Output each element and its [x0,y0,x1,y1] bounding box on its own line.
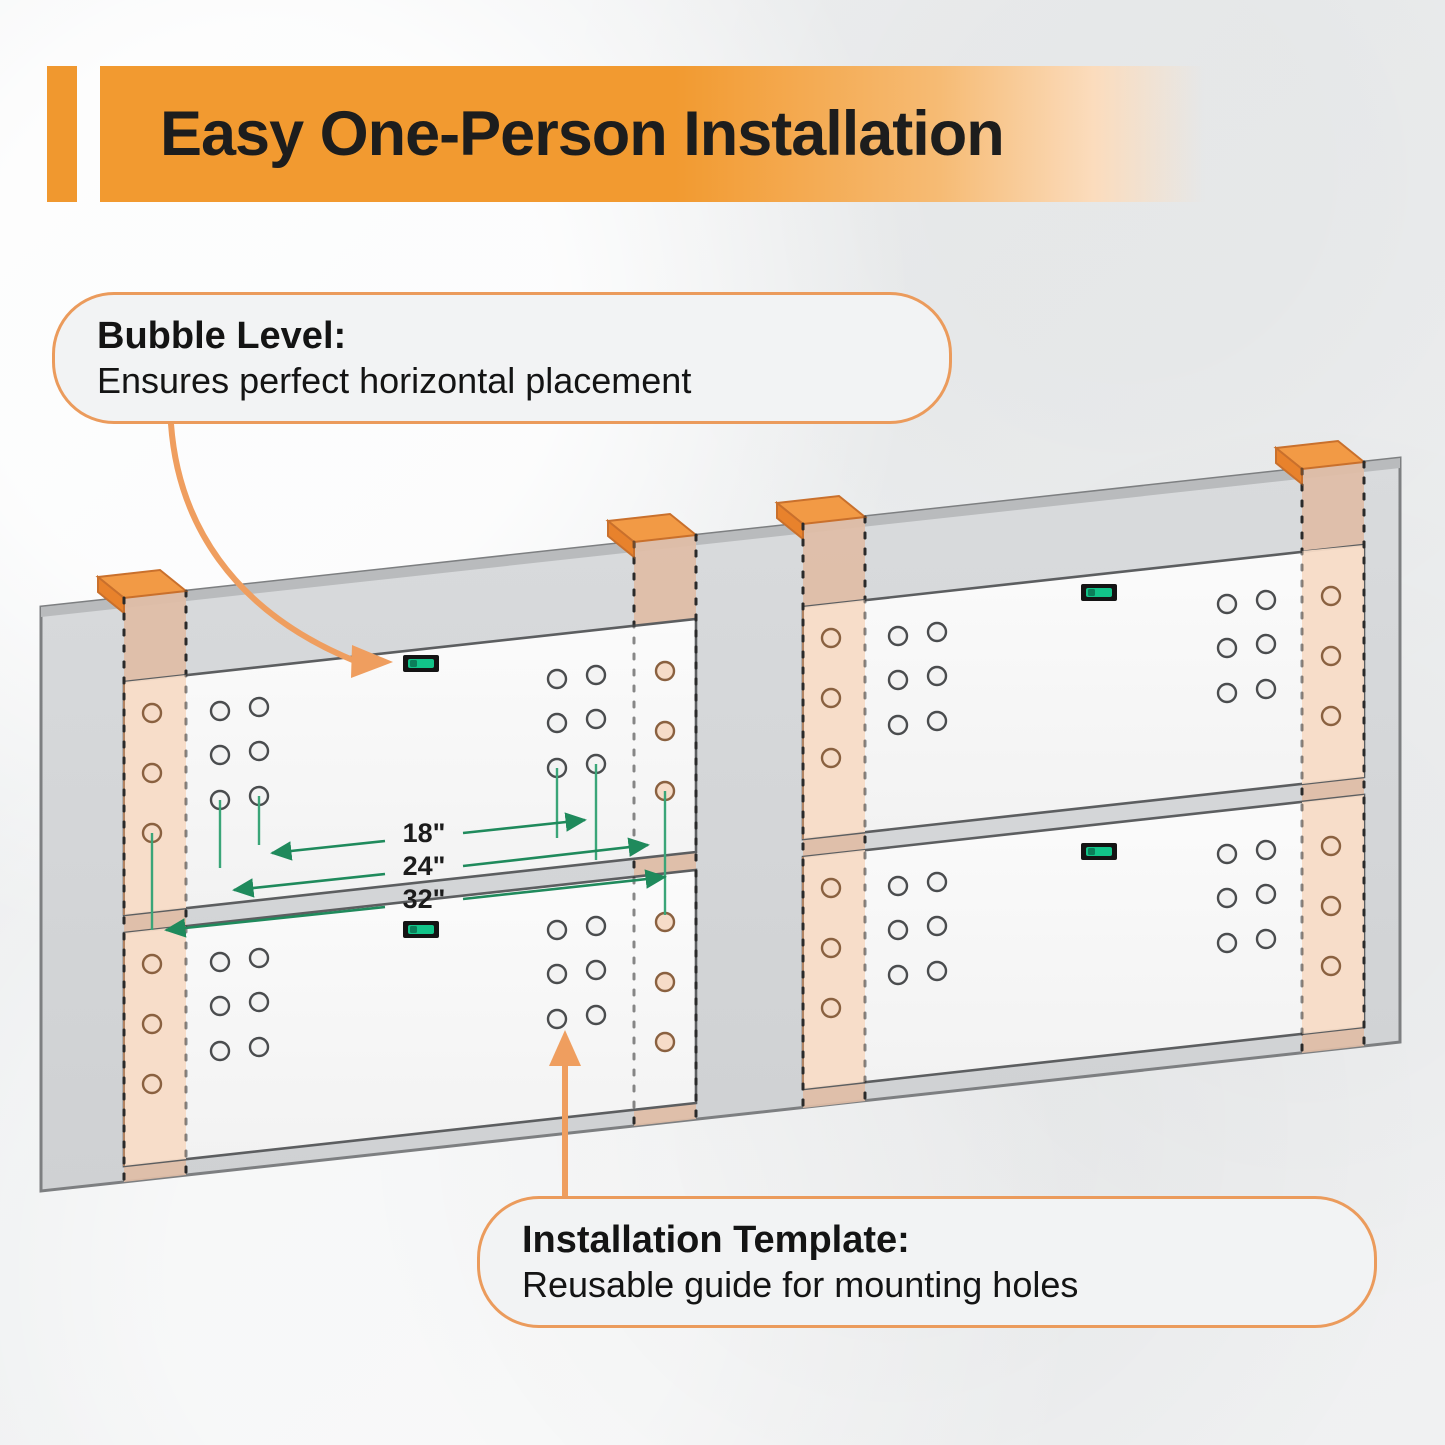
mounting-holes-right-bottom [822,837,1340,1017]
callout-pointer-bubble-level [171,424,393,678]
dimension-label-18: 18" [403,818,446,848]
stud-tab-1 [98,570,186,613]
callout-installation-template-title: Installation Template: [522,1217,1338,1263]
bubble-level-indicator-3 [1081,584,1117,601]
stud-strip-4 [1302,462,1364,1053]
stud-tab-4 [1276,441,1364,484]
dimension-extension-lines [152,764,665,930]
callout-bubble-level-title: Bubble Level: [97,313,913,359]
stud-strip-3 [803,517,865,1108]
callout-installation-template-subtitle: Reusable guide for mounting holes [522,1263,1338,1307]
mounting-holes-left-top [143,662,674,842]
stud-tab-3 [777,496,865,539]
callout-bubble-level[interactable]: Bubble Level: Ensures perfect horizontal… [52,292,952,424]
dimension-label-24: 24" [403,851,446,881]
mounting-holes-left-bottom [143,913,674,1093]
template-panel-left-top [124,619,696,915]
callout-bubble-level-subtitle: Ensures perfect horizontal placement [97,359,913,403]
header: Easy One-Person Installation [0,0,1445,230]
page-title: Easy One-Person Installation [160,66,1004,202]
template-panel-left-bottom [124,870,696,1166]
bubble-level-indicator-4 [1081,843,1117,860]
bubble-level-indicator-1 [403,655,439,672]
stud-strip-2 [634,535,696,1126]
dimension-arrows [166,820,665,930]
header-accent-bar [47,66,77,202]
bubble-level-indicator-2 [403,921,439,938]
dimension-label-32: 32" [403,884,446,914]
stud-tab-2 [608,514,696,557]
callout-installation-template[interactable]: Installation Template: Reusable guide fo… [477,1196,1377,1328]
template-panel-right-top [803,545,1364,839]
stud-strip-1 [124,591,186,1182]
stud-dotted-overlay [124,462,1364,1182]
template-panel-right-bottom [803,795,1364,1089]
mounting-holes-right-top [822,587,1340,767]
wall-panel [41,458,1400,1191]
dimension-labels: 18" 24" 32" [403,818,446,914]
callout-pointer-install-template [549,1030,581,1196]
